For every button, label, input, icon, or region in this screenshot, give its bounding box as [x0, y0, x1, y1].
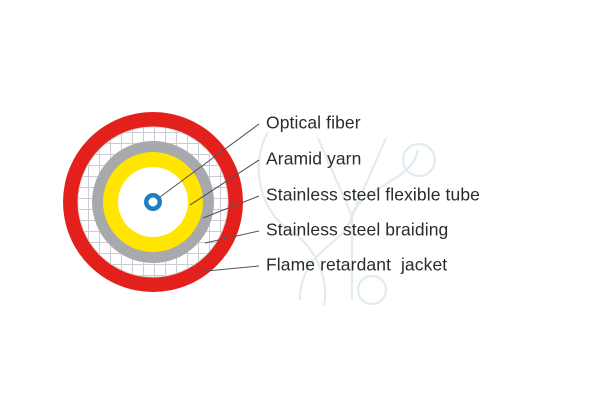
cable-layers	[63, 112, 243, 292]
callout-label-optical-fiber: Optical fiber	[266, 113, 361, 133]
cable-cross-section-figure: Optical fiber Aramid yarn Stainless stee…	[0, 0, 600, 405]
callout-labels: Optical fiber Aramid yarn Stainless stee…	[266, 113, 480, 275]
diagram-canvas: Optical fiber Aramid yarn Stainless stee…	[0, 0, 600, 405]
callout-label-stainless-steel-braiding: Stainless steel braiding	[266, 220, 448, 240]
callout-label-aramid-yarn: Aramid yarn	[266, 149, 361, 169]
optical-fiber-core	[149, 198, 158, 207]
callout-label-stainless-steel-flexible-tube: Stainless steel flexible tube	[266, 185, 480, 205]
callout-label-flame-retardant-jacket: Flame retardant jacket	[266, 255, 447, 275]
